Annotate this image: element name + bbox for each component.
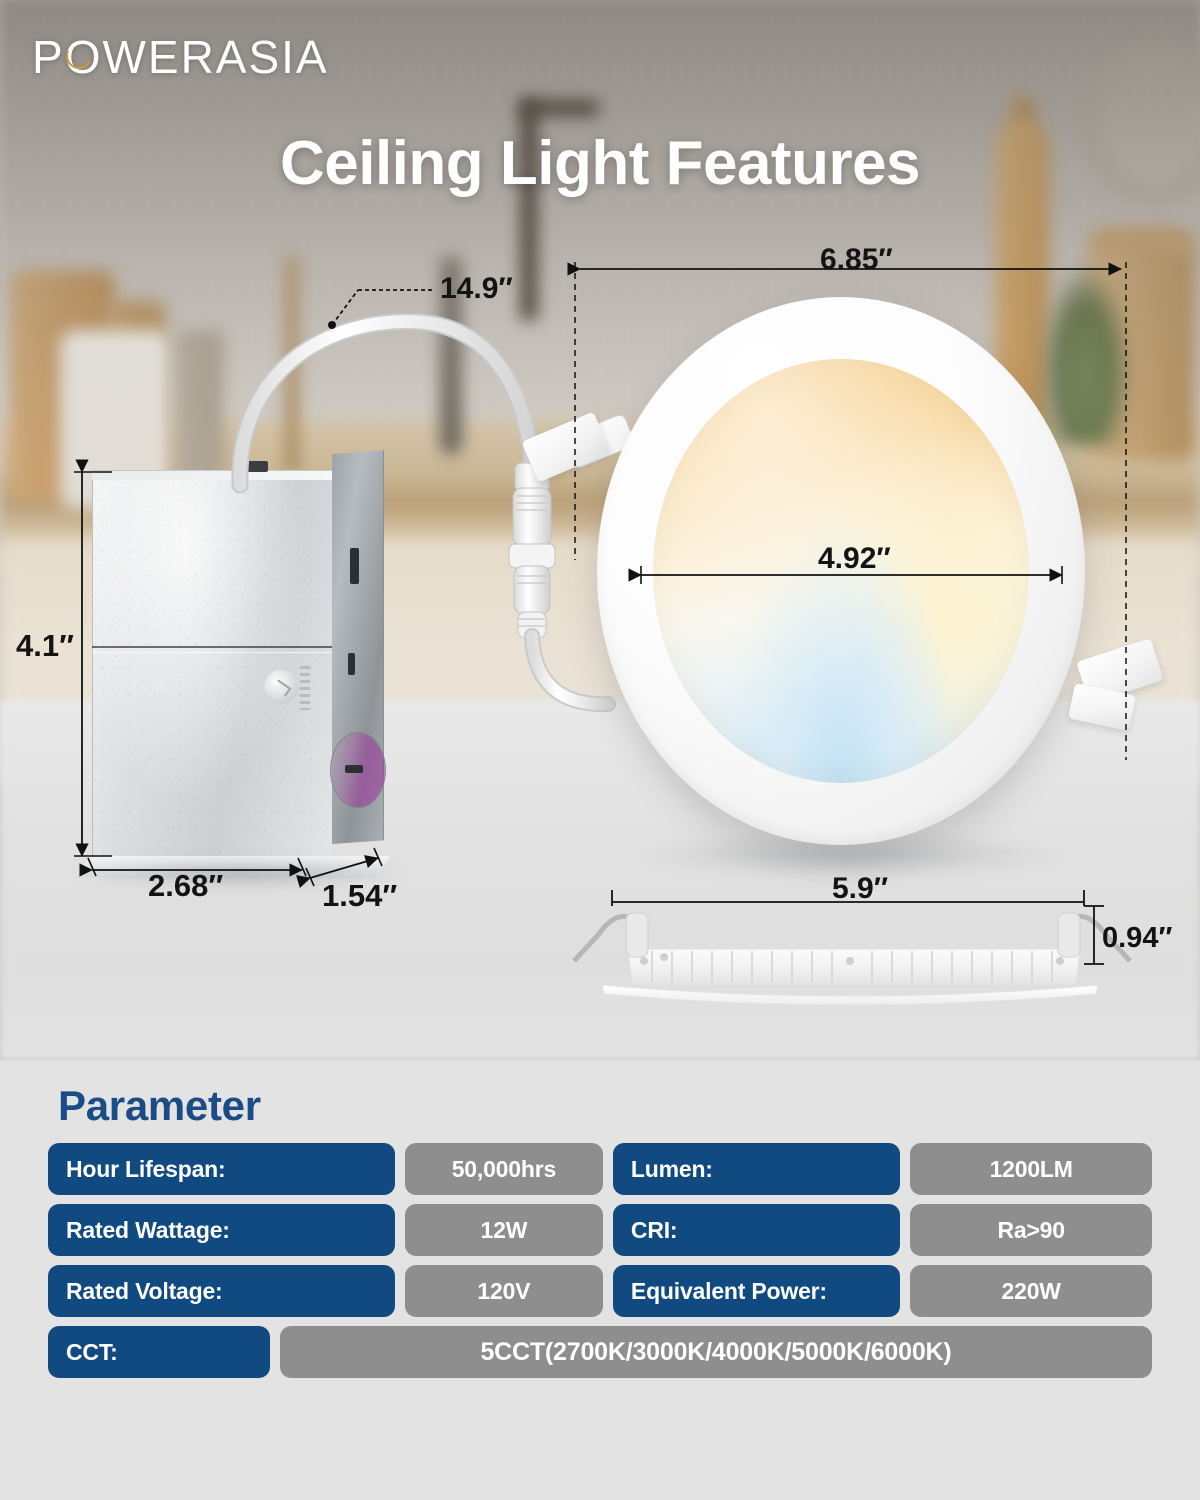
profile-diffuser-flange — [602, 985, 1098, 1005]
logo-letter-o-accent: O — [65, 34, 103, 80]
param-label-equivalent-power: Equivalent Power: — [613, 1265, 900, 1317]
dim-label-jbox-width: 2.68″ — [148, 868, 223, 904]
param-value-equivalent-power: 220W — [910, 1265, 1152, 1317]
dim-label-jbox-depth: 1.54″ — [322, 878, 397, 914]
parameter-section-title: Parameter — [58, 1082, 261, 1130]
param-value-rated-wattage: 12W — [405, 1204, 603, 1256]
table-row: Hour Lifespan: 50,000hrs Lumen: 1200LM — [48, 1143, 1152, 1195]
param-label-rated-wattage: Rated Wattage: — [48, 1204, 395, 1256]
table-row: Rated Wattage: 12W CRI: Ra>90 — [48, 1204, 1152, 1256]
param-value-hour-lifespan: 50,000hrs — [405, 1143, 603, 1195]
downlight-side-profile-view — [540, 895, 1160, 1025]
param-label-lumen: Lumen: — [613, 1143, 900, 1195]
logo-text-rest: WERASIA — [102, 31, 328, 83]
table-row: Rated Voltage: 120V Equivalent Power: 22… — [48, 1265, 1152, 1317]
quick-connector — [509, 463, 555, 638]
table-row: CCT: 5CCT(2700K/3000K/4000K/5000K/6000K) — [48, 1326, 1152, 1378]
faucet-spout-prop — [520, 100, 600, 116]
dim-label-cable-length: 14.9″ — [440, 272, 513, 306]
hero-product-photo: POWERASIA Ceiling Light Features — [0, 0, 1200, 1060]
jug-lid-prop — [1090, 230, 1195, 252]
junction-box-slot-3 — [345, 765, 363, 773]
param-label-rated-voltage: Rated Voltage: — [48, 1265, 395, 1317]
param-value-lumen: 1200LM — [910, 1143, 1152, 1195]
page-title: Ceiling Light Features — [0, 128, 1200, 199]
param-label-cct: CCT: — [48, 1326, 270, 1378]
dim-label-fixture-thickness: 0.94″ — [1102, 922, 1172, 955]
param-label-hour-lifespan: Hour Lifespan: — [48, 1143, 395, 1195]
param-label-cri: CRI: — [613, 1204, 900, 1256]
dim-label-cutout-span: 5.9″ — [832, 872, 888, 906]
param-value-rated-voltage: 120V — [405, 1265, 603, 1317]
logo-letter-p: P — [32, 31, 65, 83]
parameter-section: Parameter Hour Lifespan: 50,000hrs Lumen… — [0, 1060, 1200, 1500]
param-value-cri: Ra>90 — [910, 1204, 1152, 1256]
dim-label-lens-diameter: 4.92″ — [818, 542, 891, 576]
param-value-cct: 5CCT(2700K/3000K/4000K/5000K/6000K) — [280, 1326, 1152, 1378]
dim-label-jbox-height: 4.1″ — [16, 628, 74, 664]
brand-logo: POWERASIA — [32, 34, 329, 80]
dim-label-outer-diameter: 6.85″ — [820, 243, 893, 277]
